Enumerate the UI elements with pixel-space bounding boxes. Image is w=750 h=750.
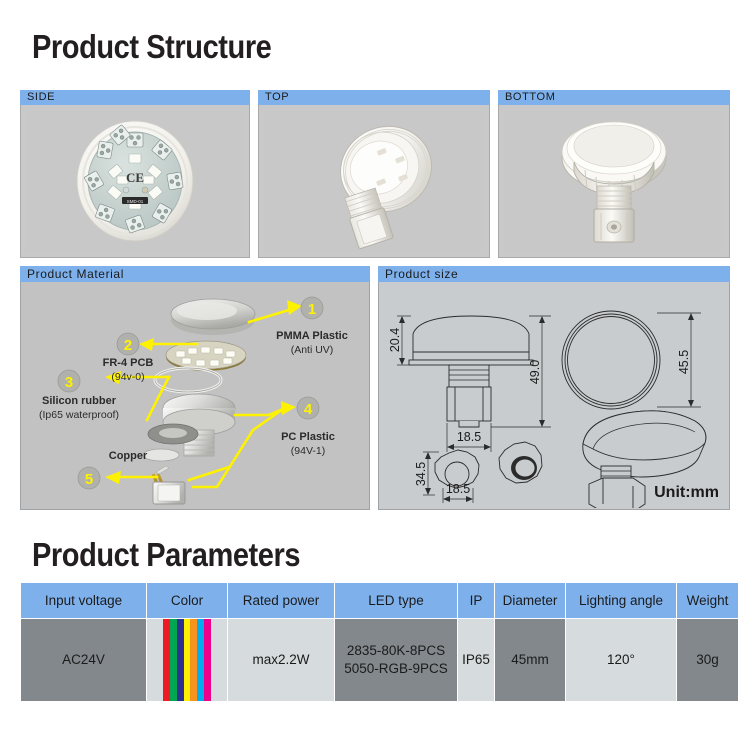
led-pcb-front-view-photo: CE SMD-01 [26,110,244,252]
panel-product-size: Product size [378,266,730,510]
material-spec-1: (Anti UV) [291,344,334,356]
svg-text:1: 1 [308,301,316,318]
panel-bottom: BOTTOM [498,90,730,258]
panel-side-label: SIDE [20,90,250,105]
header-rated-power: Rated power [228,583,334,618]
value-rated-power: max2.2W [228,619,334,701]
dim-thread-width-bot: 18.5 [446,482,470,496]
header-input-voltage: Input voltage [21,583,146,618]
material-name-2: FR-4 PCB [103,357,154,369]
panel-product-material: Product Material [20,266,370,510]
panel-top-body [258,105,490,258]
material-badge-2: 2 [117,333,139,355]
exploded-assembly-diagram: 1 2 3 4 5 PMMA P [21,282,369,508]
panel-side-body: CE SMD-01 [20,105,250,258]
material-spec-3: (Ip65 waterproof) [39,409,119,421]
material-badge-4: 4 [297,397,319,419]
product-structure-heading: Product Structure [32,28,271,66]
color-swatch-5 [190,619,197,701]
parameters-table: Input voltage Color Rated power LED type… [20,582,739,702]
panel-bottom-label: BOTTOM [498,90,730,105]
dim-outer-diameter: 45.5 [677,350,691,374]
product-parameters-heading: Product Parameters [32,536,300,574]
panel-product-material-label: Product Material [20,266,370,282]
material-spec-4: (94V-1) [291,445,325,457]
svg-text:2: 2 [124,337,132,354]
color-swatch-7 [204,619,211,701]
header-weight: Weight [677,583,738,618]
svg-text:CE: CE [126,170,144,185]
material-spec-2: (94v-0) [111,371,144,383]
header-led-type: LED type [335,583,457,618]
dim-lens-height: 20.4 [388,328,402,352]
header-color: Color [147,583,227,618]
value-input-voltage: AC24V [21,619,146,701]
color-swatch-3 [177,619,184,701]
value-color-swatches [147,619,227,701]
led-module-top-angle-photo [264,110,484,252]
led-type-line-1: 2835-80K-8PCS [337,642,455,660]
panel-bottom-body [498,105,730,258]
svg-text:SMD-01: SMD-01 [127,199,144,204]
material-badge-5: 5 [78,467,100,489]
header-diameter: Diameter [495,583,565,618]
value-ip: IP65 [458,619,494,701]
color-swatch-4 [184,619,191,701]
material-badge-3: 3 [58,370,80,392]
material-name-1: PMMA Plastic [276,330,348,342]
header-ip: IP [458,583,494,618]
value-lighting-angle: 120° [566,619,676,701]
header-lighting-angle: Lighting angle [566,583,676,618]
color-swatch-6 [197,619,204,701]
dim-overall-height: 49.0 [528,360,542,384]
parameters-header-row: Input voltage Color Rated power LED type… [21,583,738,618]
material-name-3: Silicon rubber [42,395,117,407]
svg-text:5: 5 [85,471,93,488]
dimension-drawing: 20.4 49.0 18.5 34.5 18.5 45.5 Unit:mm [379,282,729,508]
value-led-type: 2835-80K-8PCS 5050-RGB-9PCS [335,619,457,701]
dim-thread-width-top: 18.5 [457,430,481,444]
unit-note: Unit:mm [654,484,719,501]
panel-side: SIDE [20,90,250,258]
dim-nut-across-flats: 34.5 [414,462,428,486]
panel-product-size-label: Product size [378,266,730,282]
parameters-value-row: AC24V max2.2W 2835-80K-8PCS 5050-RGB-9PC… [21,619,738,701]
product-spec-page: Product Structure SIDE [0,0,750,750]
svg-text:4: 4 [304,401,313,418]
panel-top-label: TOP [258,90,490,105]
material-name-4: PC Plastic [281,431,335,443]
svg-text:3: 3 [65,374,73,391]
led-module-bottom-photo [504,110,724,252]
led-type-line-2: 5050-RGB-9PCS [337,660,455,678]
value-diameter: 45mm [495,619,565,701]
value-weight: 30g [677,619,738,701]
color-swatch-1 [163,619,170,701]
color-swatch-2 [170,619,177,701]
panel-product-material-body: 1 2 3 4 5 PMMA P [20,282,370,510]
panel-product-size-body: 20.4 49.0 18.5 34.5 18.5 45.5 Unit:mm [378,282,730,510]
material-badge-1: 1 [301,297,323,319]
panel-top: TOP [258,90,490,258]
material-name-5: Copper [109,450,148,462]
